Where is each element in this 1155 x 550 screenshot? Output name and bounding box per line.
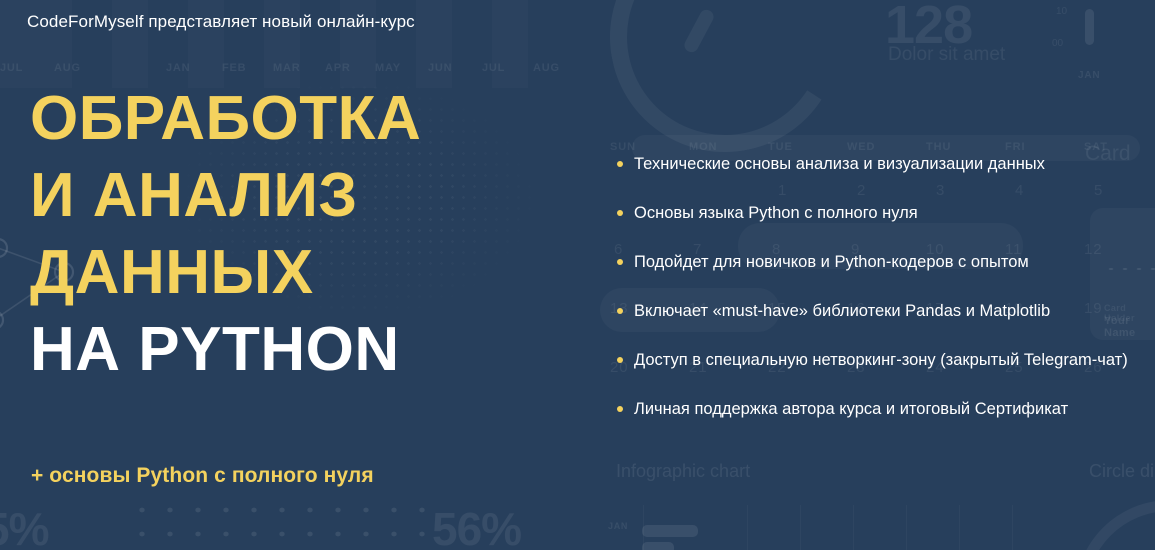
list-item: Основы языка Python с полного нуля: [614, 201, 1144, 250]
list-item: Технические основы анализа и визуализаци…: [614, 152, 1144, 201]
headline-line-2: И АНАЛИЗ: [30, 157, 590, 234]
brand-eyebrow-text: CodeForMyself представляет новый онлайн-…: [27, 12, 415, 32]
list-item: Подойдет для новичков и Python-кодеров с…: [614, 250, 1144, 299]
list-item-label: Основы языка Python с полного нуля: [634, 204, 918, 222]
list-item: Включает «must-have» библиотеки Pandas и…: [614, 299, 1144, 348]
bullet-dot-icon: [617, 308, 623, 314]
list-item: Личная поддержка автора курса и итоговый…: [614, 397, 1144, 446]
page-title: ОБРАБОТКА И АНАЛИЗ ДАННЫХ НА PYTHON: [30, 80, 590, 388]
list-item: Доступ в специальную нетворкинг-зону (за…: [614, 348, 1144, 397]
headline-line-4: НА PYTHON: [30, 311, 590, 388]
tagline-text: + основы Python с полного нуля: [31, 464, 374, 488]
banner-content: CodeForMyself представляет новый онлайн-…: [0, 0, 1155, 550]
bullet-dot-icon: [617, 210, 623, 216]
promo-banner: JUL AUG JAN FEB MAR APR MAY JUN JUL AUG …: [0, 0, 1155, 550]
list-item-label: Личная поддержка автора курса и итоговый…: [634, 400, 1068, 418]
bullet-dot-icon: [617, 406, 623, 412]
list-item-label: Доступ в специальную нетворкинг-зону (за…: [634, 351, 1128, 369]
feature-list: Технические основы анализа и визуализаци…: [614, 152, 1144, 446]
headline-line-3: ДАННЫХ: [30, 234, 590, 311]
bullet-dot-icon: [617, 357, 623, 363]
list-item-label: Включает «must-have» библиотеки Pandas и…: [634, 302, 1050, 320]
bullet-dot-icon: [617, 259, 623, 265]
headline-line-1: ОБРАБОТКА: [30, 80, 590, 157]
list-item-label: Подойдет для новичков и Python-кодеров с…: [634, 253, 1029, 271]
list-item-label: Технические основы анализа и визуализаци…: [634, 155, 1045, 173]
bullet-dot-icon: [617, 161, 623, 167]
